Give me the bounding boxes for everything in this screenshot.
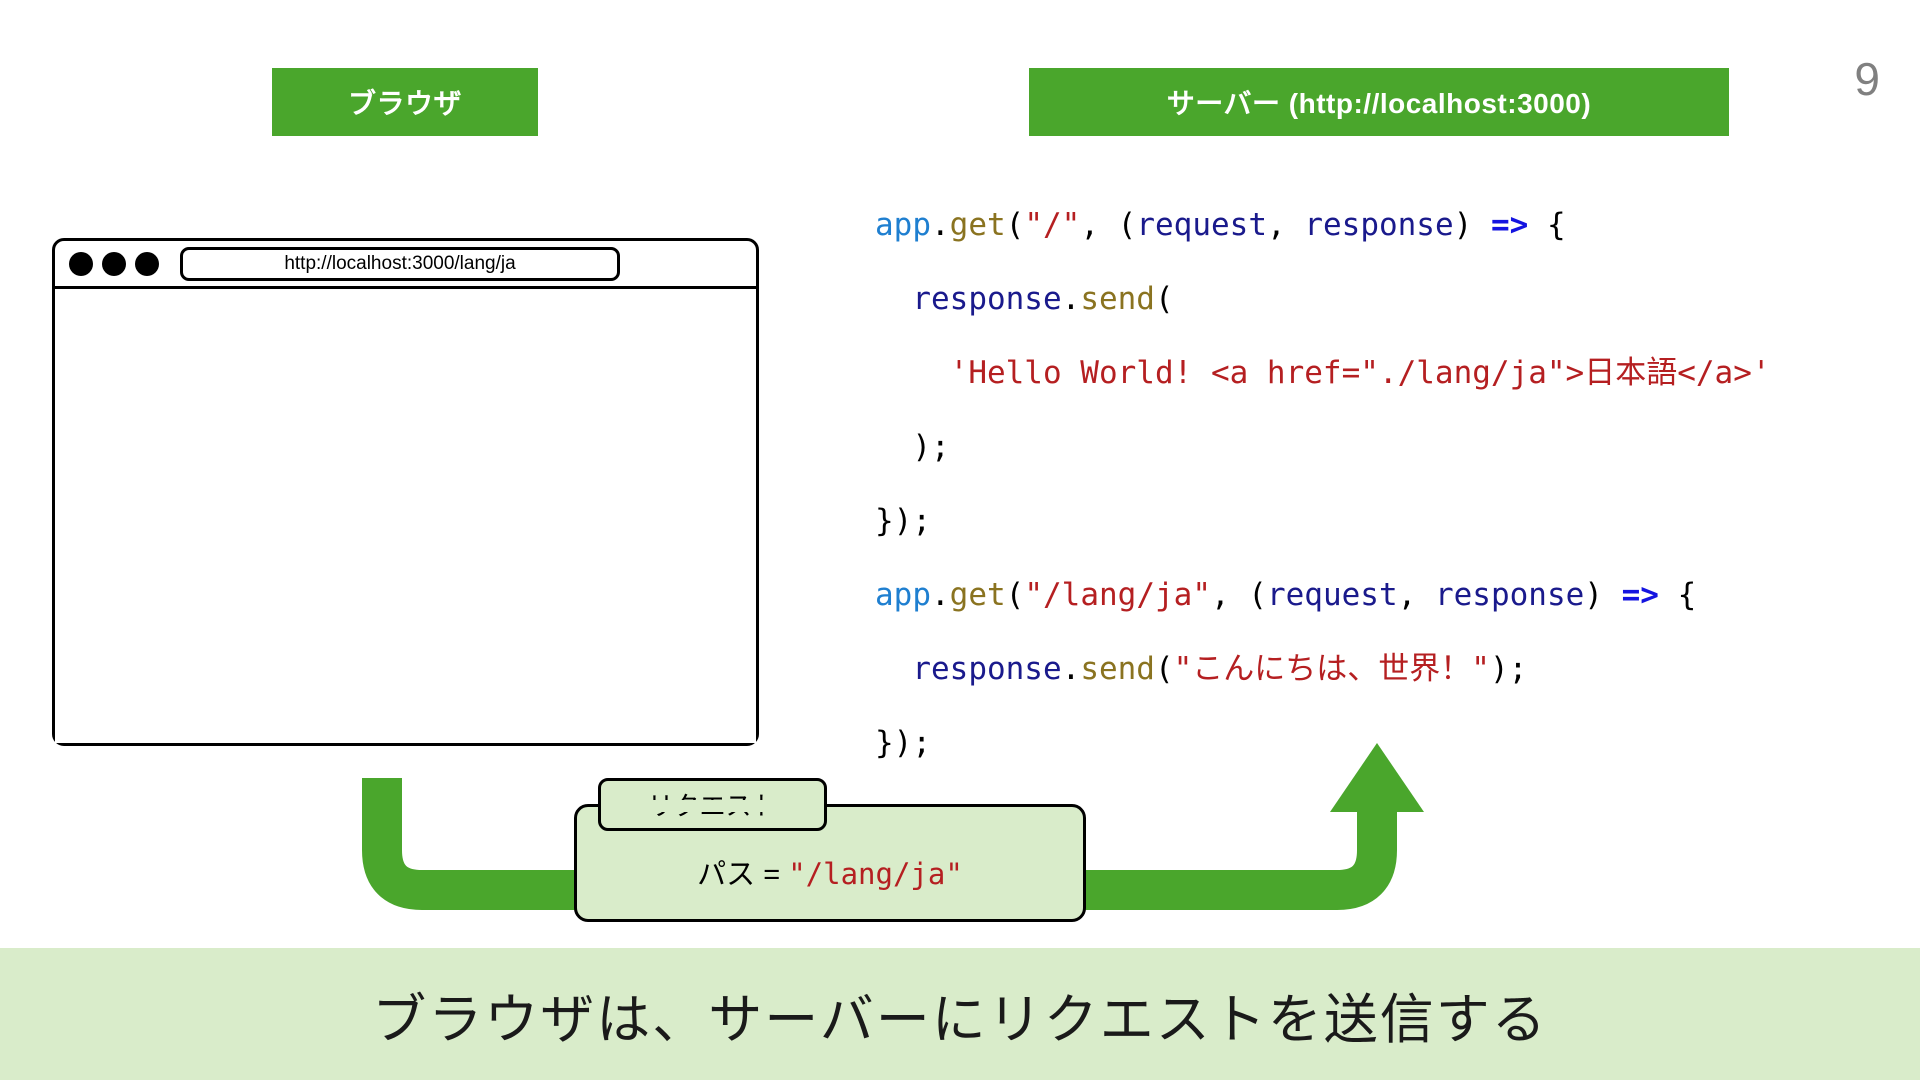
code-line: response.send(: [875, 262, 1771, 336]
code-token-plain: ): [1454, 207, 1491, 243]
code-token-param: request: [1267, 577, 1398, 613]
code-token-method: send: [1080, 281, 1155, 317]
code-token-arrow: =>: [1491, 207, 1528, 243]
browser-chrome-bar: http://localhost:3000/lang/ja: [55, 241, 756, 289]
code-token-plain: , (: [1080, 207, 1136, 243]
code-line: 'Hello World! <a href="./lang/ja">日本語</a…: [875, 336, 1771, 410]
code-token-plain: );: [875, 429, 950, 465]
browser-window: http://localhost:3000/lang/ja: [52, 238, 759, 746]
server-header-label: サーバー (http://localhost:3000): [1167, 82, 1591, 122]
code-token-arrow: =>: [1622, 577, 1659, 613]
code-token-obj: app: [875, 207, 931, 243]
code-line: app.get("/lang/ja", (request, response) …: [875, 558, 1771, 632]
browser-viewport: [55, 289, 756, 743]
code-token-plain: (: [1155, 651, 1174, 687]
code-token-plain: ,: [1398, 577, 1435, 613]
code-token-plain: ): [1584, 577, 1621, 613]
code-token-plain: (: [1155, 281, 1174, 317]
request-path-value: "/lang/ja": [788, 857, 963, 891]
code-token-plain: {: [1528, 207, 1565, 243]
slide-caption: ブラウザは、サーバーにリクエストを送信する: [372, 975, 1547, 1054]
code-token-plain: );: [1490, 651, 1527, 687]
window-dot-icon[interactable]: [135, 252, 159, 276]
code-token-str: "/lang/ja": [1024, 577, 1211, 613]
code-token-plain: (: [1006, 577, 1025, 613]
caption-band: ブラウザは、サーバーにリクエストを送信する: [0, 948, 1920, 1080]
window-dot-icon[interactable]: [102, 252, 126, 276]
code-token-plain: {: [1659, 577, 1696, 613]
code-token-plain: .: [1062, 651, 1081, 687]
code-token-plain: [875, 355, 950, 391]
code-token-param: response: [912, 281, 1061, 317]
code-token-method: send: [1080, 651, 1155, 687]
code-token-param: request: [1136, 207, 1267, 243]
browser-header-label: ブラウザ: [348, 82, 462, 122]
code-token-plain: , (: [1211, 577, 1267, 613]
code-token-str: "こんにちは、世界！": [1174, 651, 1490, 687]
browser-header-chip: ブラウザ: [272, 68, 538, 136]
code-token-plain: [875, 651, 912, 687]
code-token-param: response: [912, 651, 1061, 687]
code-token-plain: .: [931, 207, 950, 243]
code-token-str: 'Hello World! <a href="./lang/ja">日本語</a…: [950, 355, 1771, 391]
code-token-obj: app: [875, 577, 931, 613]
code-token-param: response: [1304, 207, 1453, 243]
code-line: });: [875, 484, 1771, 558]
request-callout-body: パス = "/lang/ja": [697, 851, 963, 893]
address-bar[interactable]: http://localhost:3000/lang/ja: [180, 247, 620, 281]
code-token-method: get: [950, 207, 1006, 243]
code-line: app.get("/", (request, response) => {: [875, 188, 1771, 262]
window-dot-icon[interactable]: [69, 252, 93, 276]
request-path-label: パス =: [697, 859, 788, 891]
code-token-param: response: [1435, 577, 1584, 613]
code-line: );: [875, 410, 1771, 484]
code-token-plain: ,: [1267, 207, 1304, 243]
code-line: response.send("こんにちは、世界！");: [875, 632, 1771, 706]
server-code-block: app.get("/", (request, response) => { re…: [875, 188, 1771, 780]
address-bar-url: http://localhost:3000/lang/ja: [284, 253, 515, 275]
page-number: 9: [1854, 52, 1880, 106]
request-tab-joiner: [601, 800, 824, 812]
code-token-plain: (: [1006, 207, 1025, 243]
server-header-chip: サーバー (http://localhost:3000): [1029, 68, 1729, 136]
code-token-plain: });: [875, 503, 931, 539]
code-token-plain: .: [1062, 281, 1081, 317]
code-token-plain: .: [931, 577, 950, 613]
code-token-str: "/": [1024, 207, 1080, 243]
code-token-method: get: [950, 577, 1006, 613]
code-token-plain: [875, 281, 912, 317]
